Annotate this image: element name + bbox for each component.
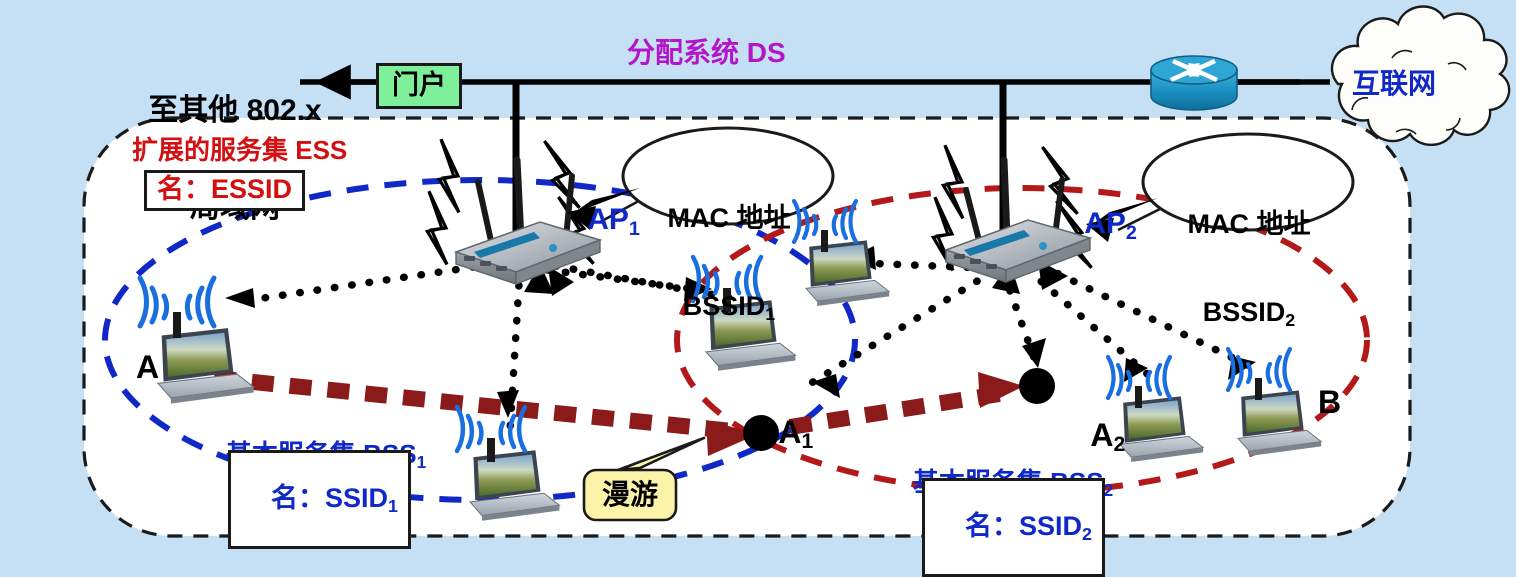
station-a-label: A [136,350,159,385]
to-other-lan-line1: 至其他 802.x [130,95,340,127]
ap2-label-text: AP [1084,207,1126,240]
bssid1-bubble-text: MAC 地址 BSSID1 [650,146,808,379]
station-a1-text: A [778,414,801,450]
bssid1-sub: 1 [765,304,775,324]
bssid2-line2: BSSID [1203,297,1286,327]
laptop-icon-bss1-lower [470,450,559,521]
bss1-name-text: 名：SSID [271,483,388,513]
diagram-canvas: 至其他 802.x 局域网 门户 分配系统 DS 互联网 扩展的服务集 ESS … [0,0,1516,553]
bssid2-line1: MAC 地址 [1170,210,1328,239]
station-a1-label: A1 [744,380,813,484]
bssid2-sub: 2 [1285,310,1295,330]
bssid1-line1: MAC 地址 [650,204,808,233]
portal-box[interactable]: 门户 [376,63,462,109]
ess-name-box: 名：ESSID [144,170,305,211]
bss1-title-sub: 1 [417,452,427,472]
distribution-system-label: 分配系统 DS [627,38,786,68]
ap2-label: AP2 [1052,176,1137,273]
station-a2-sub: 2 [1113,433,1125,456]
laptop-icon-bss2-upper [806,240,889,306]
laptop-icon-a [158,328,254,403]
laptop-icon-b [1238,390,1321,456]
station-a1-sub: 1 [801,430,813,453]
internet-label: 互联网 [1352,69,1436,99]
laptop-icon-bss2-mid [1120,396,1203,462]
station-b-label: B [1318,385,1341,420]
ap1-label-text: AP [587,203,629,236]
ap1-label: AP1 [555,172,640,269]
station-a2-label: A2 [1056,383,1125,487]
bss2-name-text: 名：SSID [965,511,1082,541]
ap2-label-sub: 2 [1126,222,1137,244]
bssid2-bubble-text: MAC 地址 BSSID2 [1170,152,1328,385]
bss2-name-box: 名：SSID2 [922,478,1105,577]
bss1-name-box: 名：SSID1 [228,450,411,549]
station-a2-text: A [1090,417,1113,453]
roaming-callout-label: 漫游 [588,480,672,510]
bss1-name-sub: 1 [388,496,398,516]
bss2-name-sub: 2 [1082,524,1092,544]
bssid1-line2: BSSID [683,291,766,321]
ess-title: 扩展的服务集 ESS [132,136,347,164]
ap1-label-sub: 1 [629,218,640,240]
